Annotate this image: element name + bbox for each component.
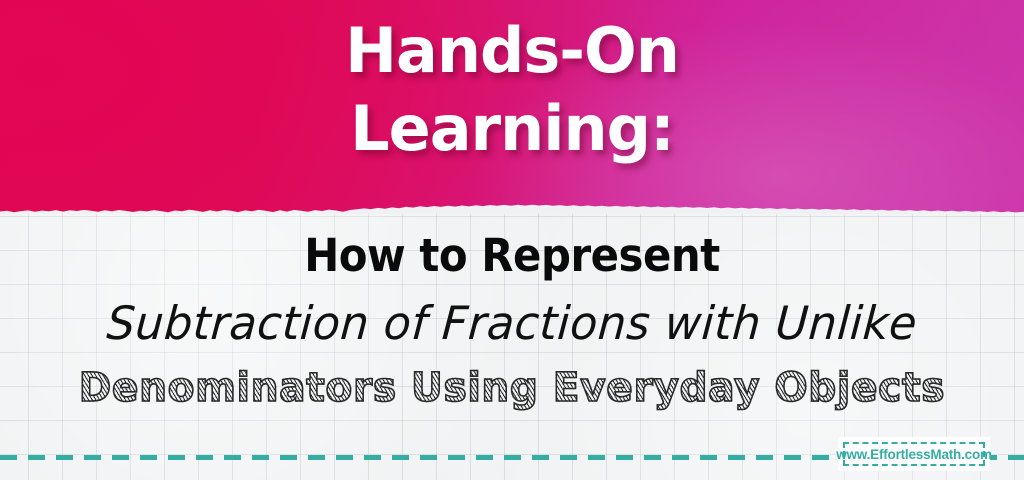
paper-heading: How to Represent xyxy=(36,230,988,282)
watermark-url-text: www.EffortlessMath.com xyxy=(836,447,992,462)
hero-gradient-band: Hands-On Learning: xyxy=(0,0,1024,216)
banner: Hands-On Learning: How to Represent Subt… xyxy=(0,0,1024,480)
paper-subheading-handwritten: Subtraction of Fractions with Unlike xyxy=(14,296,1011,350)
hero-title: Hands-On Learning: xyxy=(0,12,1024,168)
paper-subheading-outlined: Denominators Using Everyday Objects xyxy=(10,364,1014,412)
watermark-badge[interactable]: www.EffortlessMath.com xyxy=(838,437,990,471)
